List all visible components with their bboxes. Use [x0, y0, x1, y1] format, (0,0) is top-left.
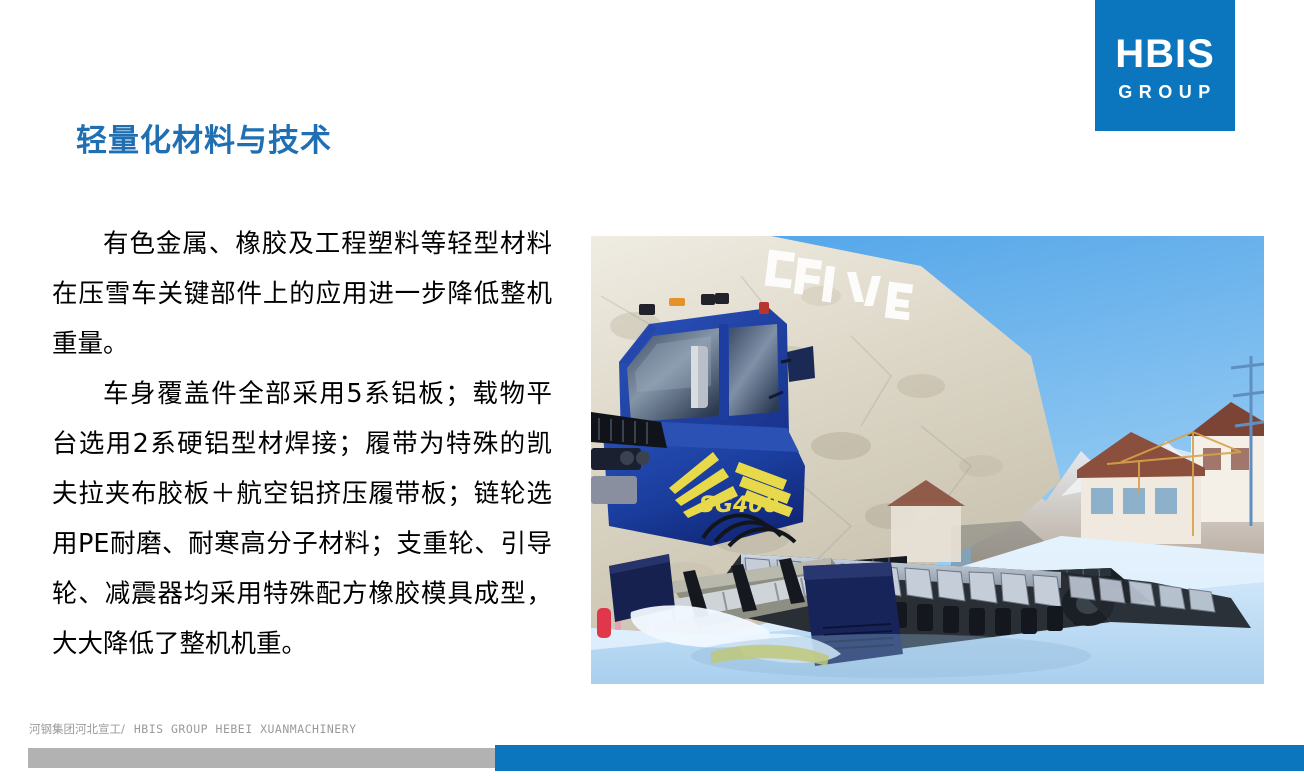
photo-illustration: SG400 [591, 236, 1264, 684]
logo-wordmark: HBIS [1115, 34, 1215, 74]
body-text-block: 有色金属、橡胶及工程塑料等轻型材料在压雪车关键部件上的应用进一步降低整机重量。 … [52, 219, 552, 669]
paragraph-2: 车身覆盖件全部采用5系铝板；载物平台选用2系硬铝型材焊接；履带为特殊的凯夫拉夹布… [52, 369, 552, 669]
bottom-bar-blue [495, 745, 1304, 771]
bottom-bar-gray [28, 748, 495, 768]
hbis-logo: HBIS GROUP [1095, 0, 1235, 131]
snow-groomer-photo: SG400 [591, 236, 1264, 684]
logo-subtext: GROUP [1118, 83, 1217, 101]
page-title: 轻量化材料与技术 [76, 115, 332, 160]
footer-credit-cn: 河钢集团河北宣工/ [29, 722, 125, 736]
footer-credit: 河钢集团河北宣工/HBIS GROUP HEBEI XUANMACHINERY [29, 721, 357, 737]
paragraph-1: 有色金属、橡胶及工程塑料等轻型材料在压雪车关键部件上的应用进一步降低整机重量。 [52, 219, 552, 369]
footer-credit-en: HBIS GROUP HEBEI XUANMACHINERY [134, 722, 357, 736]
vehicle-hood: SG400 [591, 412, 805, 546]
